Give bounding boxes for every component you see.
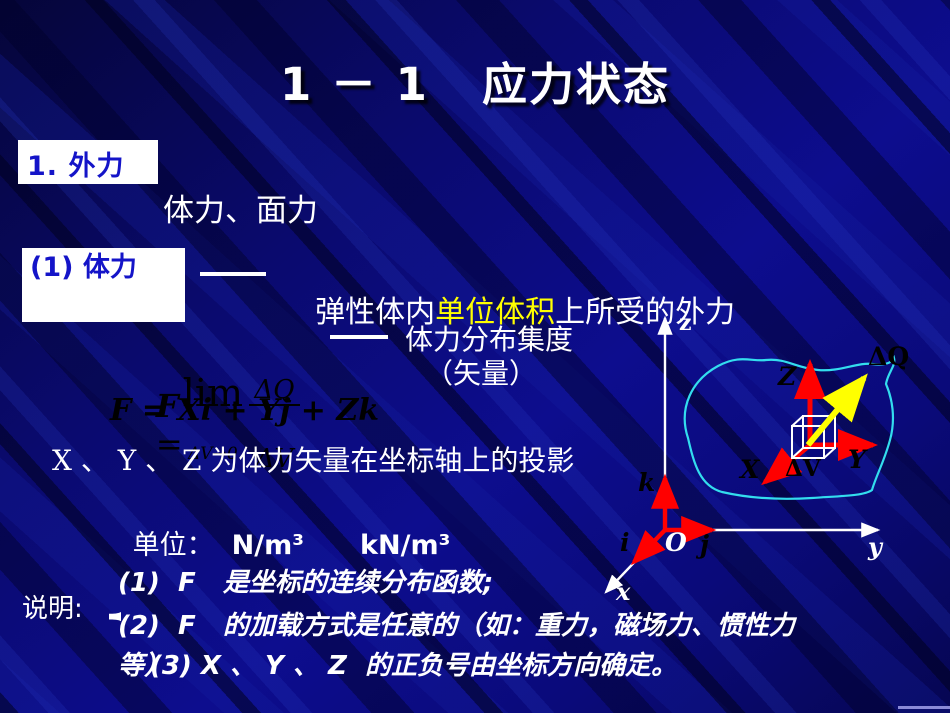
note-item-3: (3) X 、 Y 、 Z 的正负号由坐标方向确定。 xyxy=(150,645,677,682)
basis-label-i: i xyxy=(620,528,630,557)
body-force-diagram: z y x O i j k Z Y X ΔQ ΔV xyxy=(600,300,950,605)
basis-label-j: j xyxy=(700,530,709,559)
bottom-edge-rule xyxy=(898,706,950,709)
formula-annotation-line2: （矢量） xyxy=(425,352,537,392)
local-axis-label-Z: Z xyxy=(778,362,796,391)
basis-label-k: k xyxy=(638,468,655,497)
axis-label-z: z xyxy=(679,310,692,336)
axis-label-x: x xyxy=(616,577,630,606)
note-item-1: (1) F 是坐标的连续分布函数; xyxy=(118,562,493,599)
force-label-deltaQ: ΔQ xyxy=(868,342,909,371)
components-equation: F = Xi + Yj + Zk xyxy=(110,393,379,428)
em-dash-rule-1 xyxy=(200,272,266,276)
axis-label-y: y xyxy=(868,532,882,561)
item-label-text: (1) 体力 xyxy=(30,250,180,286)
section-heading-label: 1. 外力 xyxy=(27,144,124,183)
basis-vector-i xyxy=(634,530,665,562)
slide-canvas: 1 － 1 应力状态 1. 外力 体力、面力 (1) 体力 弹性体内单位体积上所… xyxy=(0,0,950,713)
section-subtitle: 体力、面力 xyxy=(163,185,318,230)
note-item-2: (2) F 的加载方式是任意的（如：重力，磁场力、惯性力 xyxy=(118,605,795,642)
volume-label-deltaV: ΔV xyxy=(785,455,821,482)
em-dash-rule-2 xyxy=(330,335,388,339)
local-axis-label-X: X xyxy=(740,455,759,484)
origin-label: O xyxy=(665,528,687,557)
unit-value-1: N/m³ xyxy=(232,530,304,561)
unit-label: 单位： xyxy=(133,530,214,561)
notes-label: 说明: xyxy=(22,588,83,625)
section-heading-box: 1. 外力 xyxy=(18,140,158,184)
local-axis-label-Y: Y xyxy=(848,445,866,474)
projection-text: X 、 Y 、 Z 为体力矢量在坐标轴上的投影 xyxy=(52,443,612,479)
page-title: 1 － 1 应力状态 xyxy=(0,48,950,113)
unit-value-2: kN/m³ xyxy=(360,530,450,561)
